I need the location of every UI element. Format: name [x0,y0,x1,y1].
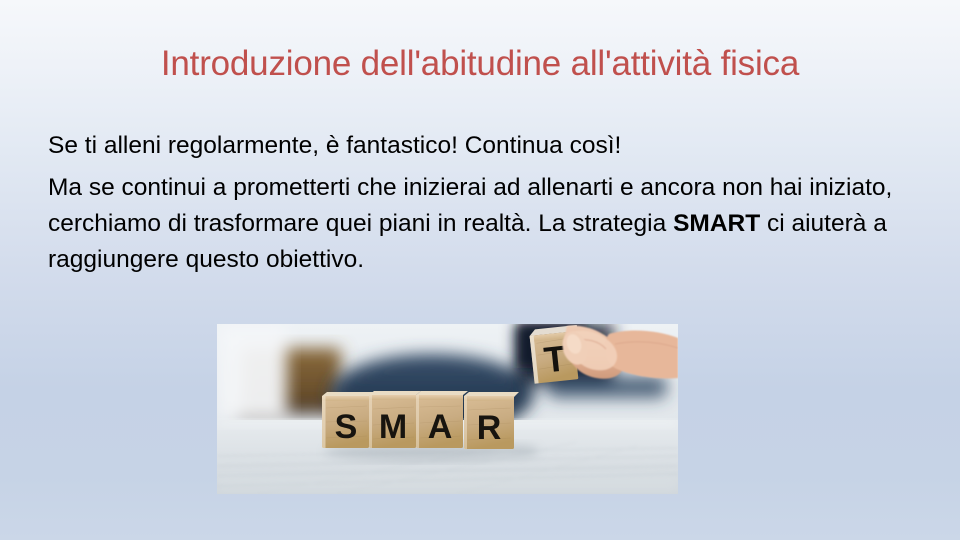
svg-text:S: S [335,408,358,446]
svg-text:A: A [428,408,453,446]
body-text-block: Se ti alleni regolarmente, è fantastico!… [48,128,914,282]
page-title: Introduzione dell'abitudine all'attività… [48,42,912,86]
photo-illustration: T [217,324,678,494]
block-row: S M [322,391,519,449]
smart-keyword: SMART [673,210,760,237]
svg-text:M: M [379,408,407,446]
body-paragraph-1: Se ti alleni regolarmente, è fantastico!… [48,128,914,164]
slide-canvas: Introduzione dell'abitudine all'attività… [0,0,960,540]
block-M: M [369,391,421,448]
block-R: R [464,392,519,449]
svg-text:R: R [477,409,502,447]
body-paragraph-2: Ma se continui a prometterti che inizier… [48,170,914,278]
block-A: A [416,391,468,448]
block-S: S [322,392,374,448]
smart-blocks-photo: T [217,324,678,494]
